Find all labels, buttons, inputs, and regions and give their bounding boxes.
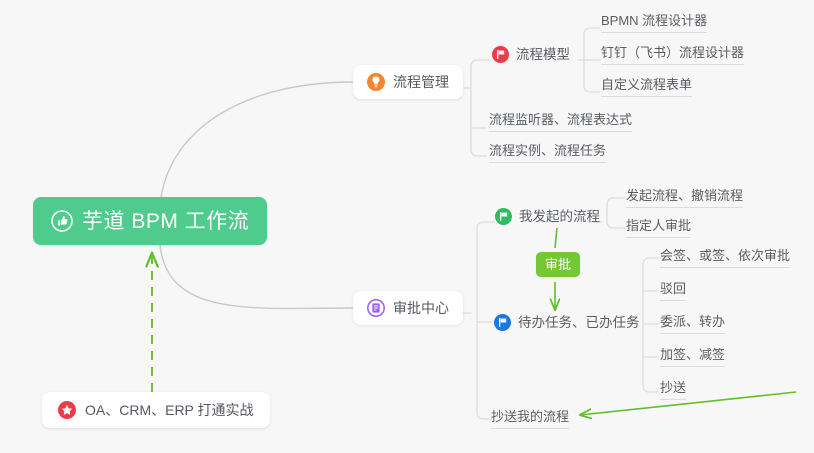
edge-root-to-approval-center (160, 245, 353, 308)
leaf-assignee-approval[interactable]: 指定人审批 (626, 219, 691, 238)
leaf-process-listener-expression[interactable]: 流程监听器、流程表达式 (489, 113, 632, 132)
note-card-integration[interactable]: OA、CRM、ERP 打通实战 (42, 392, 270, 428)
leaf-cc[interactable]: 抄送 (660, 381, 686, 400)
topic-todo-done-tasks[interactable]: 待办任务、已办任务 (494, 314, 640, 331)
edge-todo-spine (643, 258, 649, 392)
lightbulb-icon (367, 73, 385, 91)
mindmap-canvas: 芋道 BPM 工作流 流程管理 流程模型 BPMN 流程设计器 钉钉（飞书）流程… (0, 0, 814, 453)
arrow-cc-to-ccme (580, 392, 796, 415)
branch-node-process-management[interactable]: 流程管理 (353, 65, 463, 99)
edge-ac-spine (477, 222, 483, 419)
document-circle-icon (367, 299, 385, 317)
root-node[interactable]: 芋道 BPM 工作流 (33, 197, 267, 245)
flag-circle-icon (492, 46, 509, 63)
leaf-reject[interactable]: 驳回 (660, 282, 686, 301)
leaf-cc-to-me-process[interactable]: 抄送我的流程 (491, 410, 569, 429)
note-label: OA、CRM、ERP 打通实战 (85, 403, 254, 417)
leaf-process-instance-task[interactable]: 流程实例、流程任务 (489, 144, 606, 163)
flag-circle-icon (494, 314, 511, 331)
topic-label-process-model: 流程模型 (516, 48, 570, 62)
leaf-countersign-or-sequential[interactable]: 会签、或签、依次审批 (660, 249, 790, 268)
leaf-start-cancel-process[interactable]: 发起流程、撤销流程 (626, 189, 743, 208)
topic-my-started-process[interactable]: 我发起的流程 (495, 208, 600, 225)
topic-label-my-started-process: 我发起的流程 (519, 210, 600, 224)
branch-label-approval-center: 审批中心 (393, 301, 449, 315)
topic-process-model[interactable]: 流程模型 (492, 46, 570, 63)
edge-started-spine (607, 198, 613, 228)
thumbs-up-icon (51, 210, 73, 232)
leaf-custom-process-form[interactable]: 自定义流程表单 (601, 78, 692, 97)
leaf-bpmn-designer[interactable]: BPMN 流程设计器 (601, 14, 707, 33)
leaf-add-remove-sign[interactable]: 加签、减签 (660, 348, 725, 367)
leaf-dingtalk-feishu-designer[interactable]: 钉钉（飞书）流程设计器 (601, 46, 744, 65)
flag-circle-icon (495, 208, 512, 225)
branch-label-process-management: 流程管理 (393, 75, 449, 89)
branch-node-approval-center[interactable]: 审批中心 (353, 291, 463, 325)
tag-node-approval[interactable]: 审批 (536, 252, 580, 277)
edge-pm-spine (471, 60, 477, 156)
edge-model-spine (584, 28, 590, 92)
root-label: 芋道 BPM 工作流 (82, 211, 249, 232)
edge-root-to-process-management (160, 82, 353, 205)
topic-label-todo-done-tasks: 待办任务、已办任务 (518, 316, 640, 330)
star-circle-icon (58, 401, 76, 419)
leaf-delegate-transfer[interactable]: 委派、转办 (660, 315, 725, 334)
arrow-started-to-approval-tag (555, 228, 557, 248)
